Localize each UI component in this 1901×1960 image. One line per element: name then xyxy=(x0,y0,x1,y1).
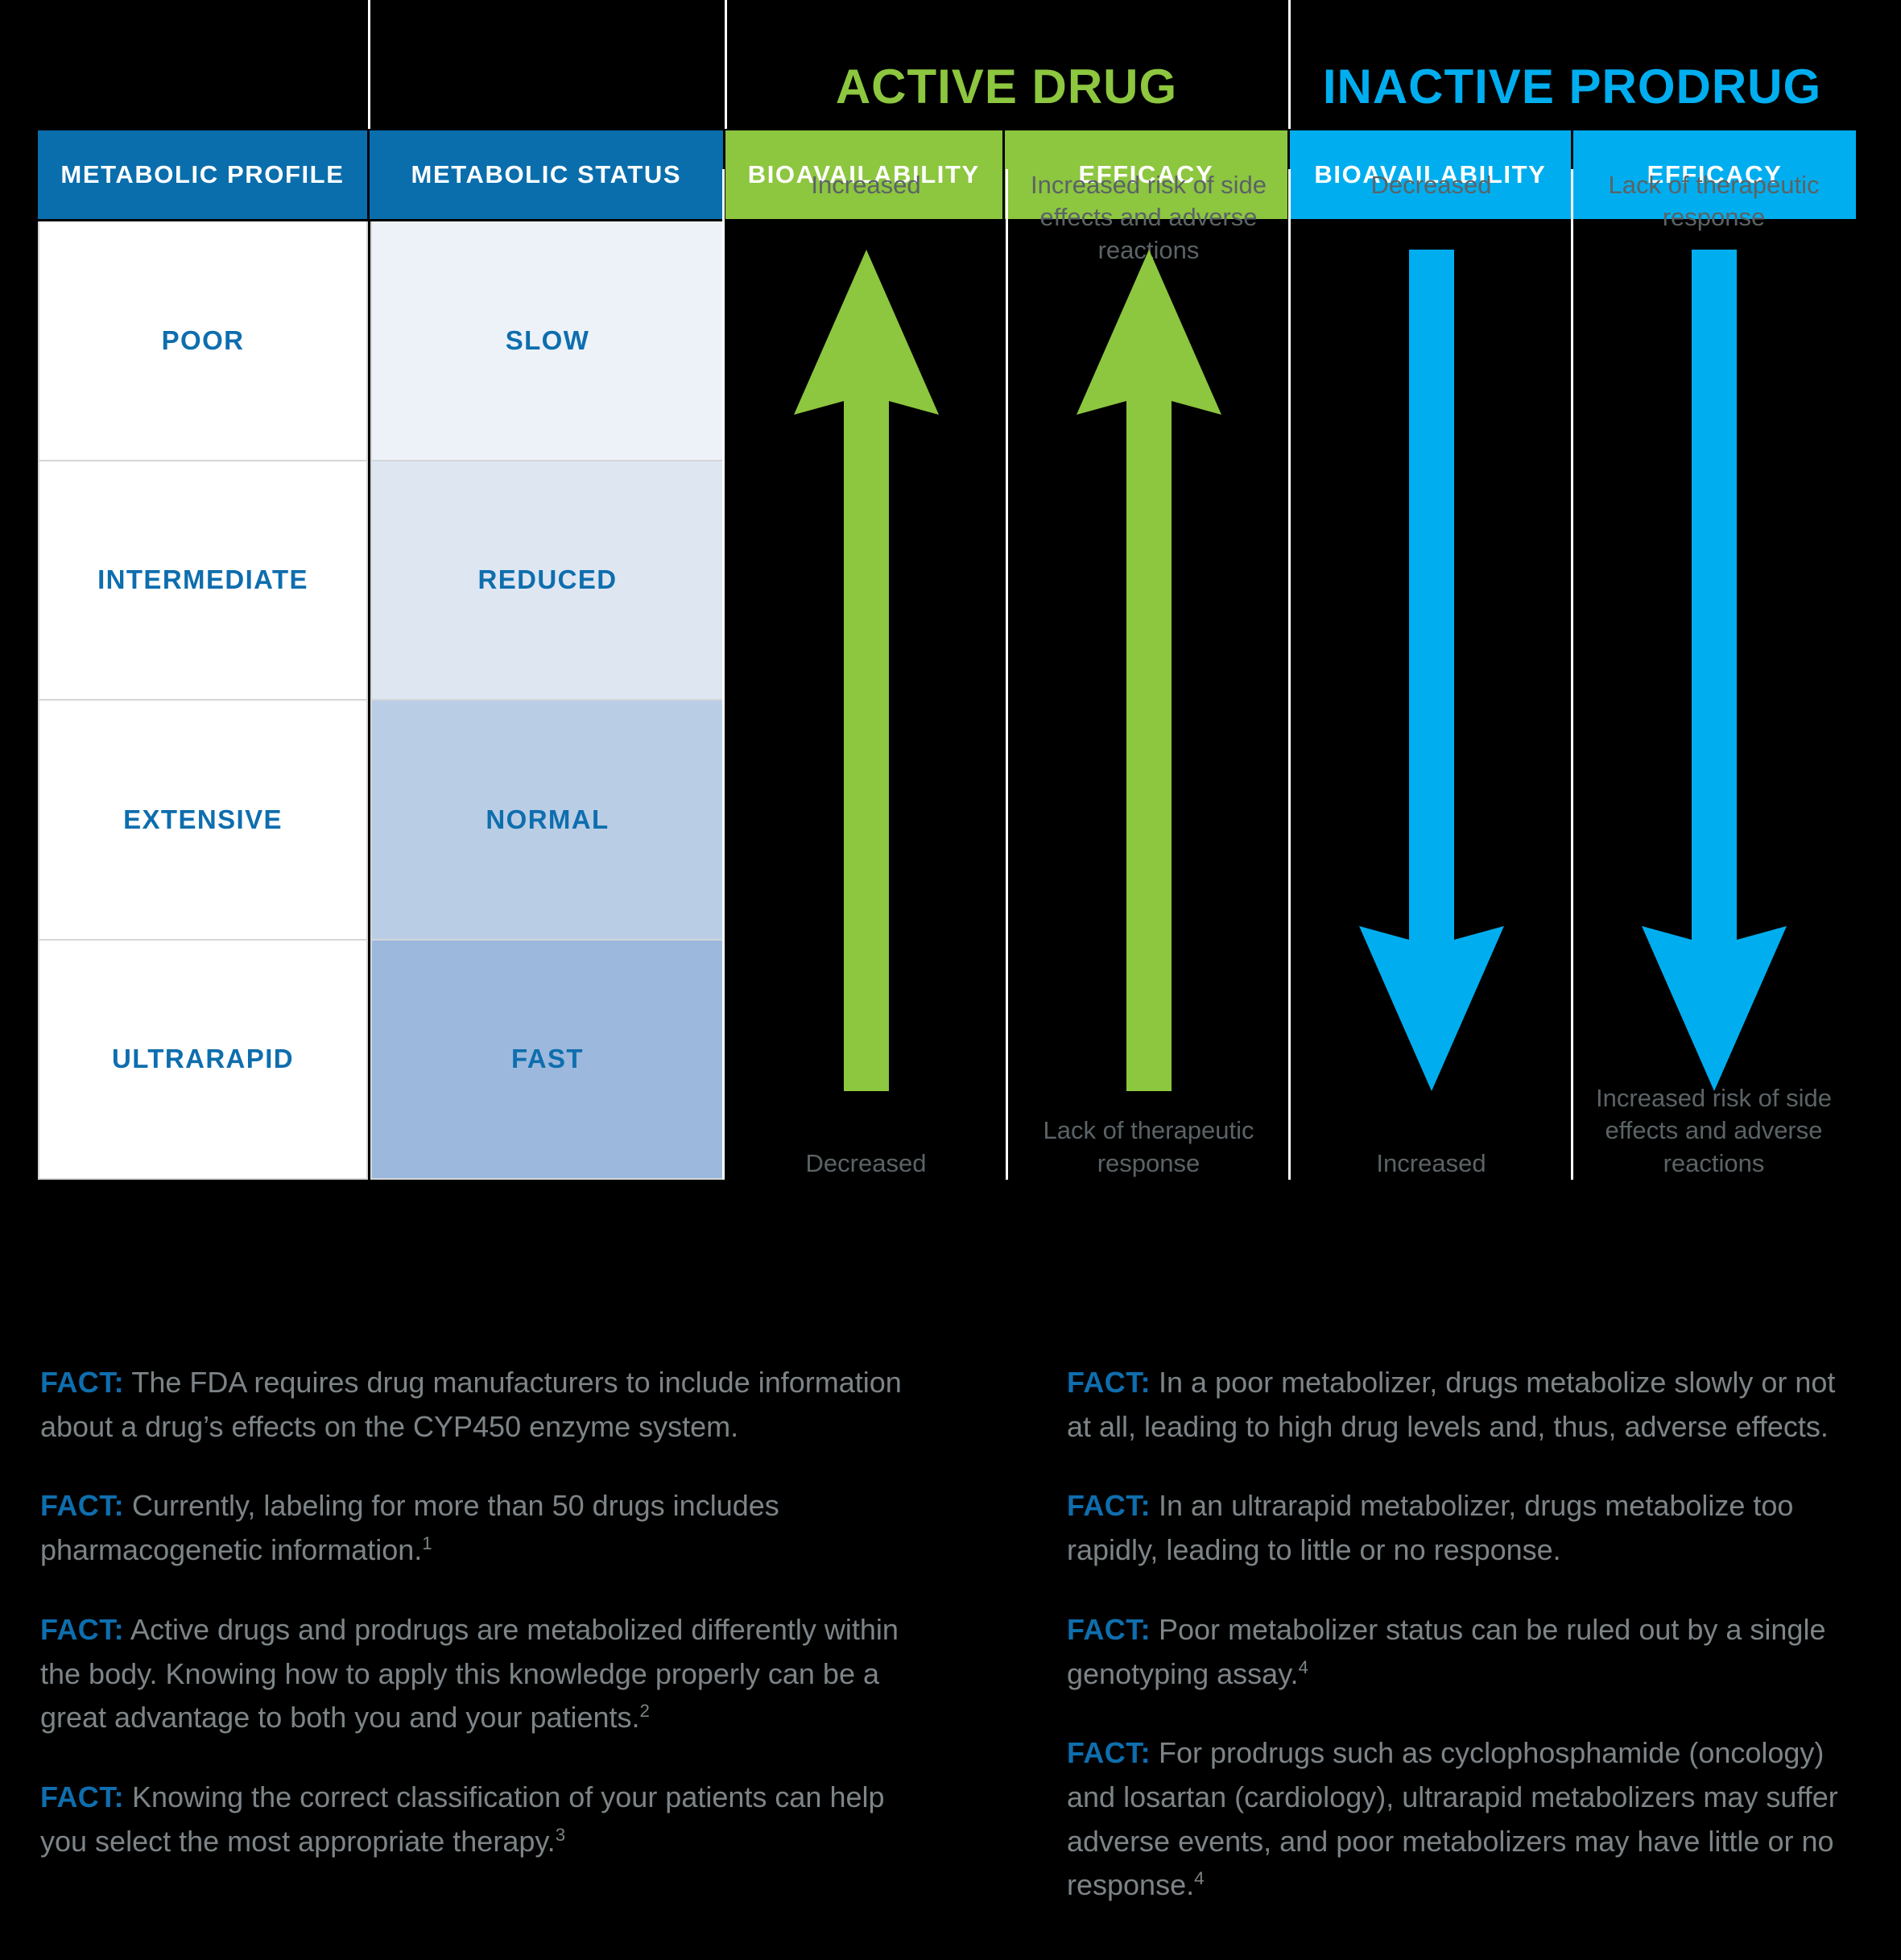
arrow-up-green-icon xyxy=(794,250,939,1091)
fact-item: FACT: In a poor metabolizer, drugs metab… xyxy=(1067,1361,1853,1449)
arrow-cell-active-bioavailability: Increased Decreased xyxy=(725,169,1007,1180)
arrow-up-green-icon xyxy=(1077,250,1221,1091)
active-drug-title: ACTIVE DRUG xyxy=(836,63,1177,111)
metabolizer-table: ACTIVE DRUG INACTIVE PRODRUG METABOLIC P… xyxy=(38,0,1856,1185)
fact-item: FACT: For prodrugs such as cyclophospham… xyxy=(1067,1731,1853,1908)
fact-text: The FDA requires drug manufacturers to i… xyxy=(40,1366,902,1443)
facts-section: FACT: The FDA requires drug manufacturer… xyxy=(0,1361,1901,1960)
facts-column-right: FACT: In a poor metabolizer, drugs metab… xyxy=(938,1361,1901,1960)
table-left-columns: POOR INTERMEDIATE EXTENSIVE ULTRARAPID S… xyxy=(38,221,725,1180)
super-header-row: ACTIVE DRUG INACTIVE PRODRUG xyxy=(38,0,1856,129)
column-header-metabolic-profile: METABOLIC PROFILE xyxy=(38,130,367,219)
arrow-cell-active-efficacy: Increased risk of side effects and adver… xyxy=(1007,169,1290,1180)
table-row: NORMAL xyxy=(370,701,725,941)
fact-text: In a poor metabolizer, drugs metabolize … xyxy=(1067,1366,1835,1443)
fact-ref: 3 xyxy=(556,1825,565,1845)
fact-text: For prodrugs such as cyclophosphamide (o… xyxy=(1067,1736,1838,1901)
super-header-divider-3 xyxy=(1288,0,1291,129)
infographic-root: ACTIVE DRUG INACTIVE PRODRUG METABOLIC P… xyxy=(0,0,1901,1960)
fact-tag: FACT: xyxy=(40,1489,124,1522)
table-row: REDUCED xyxy=(370,461,725,701)
arrow-cell-prodrug-efficacy: Lack of therapeutic response Increased r… xyxy=(1572,169,1855,1180)
fact-tag: FACT: xyxy=(1067,1613,1151,1646)
table-row: POOR xyxy=(38,221,368,461)
fact-item: FACT: In an ultrarapid metabolizer, drug… xyxy=(1067,1484,1853,1572)
fact-item: FACT: Active drugs and prodrugs are meta… xyxy=(40,1608,906,1740)
fact-item: FACT: Knowing the correct classification… xyxy=(40,1776,906,1863)
fact-item: FACT: Currently, labeling for more than … xyxy=(40,1484,906,1572)
table-row: SLOW xyxy=(370,221,725,461)
arrow-panel: Increased Decreased Increased risk of si… xyxy=(725,169,1856,1180)
fact-tag: FACT: xyxy=(40,1613,124,1646)
fact-ref: 1 xyxy=(422,1533,432,1553)
fact-ref: 2 xyxy=(640,1701,650,1721)
fact-text: Active drugs and prodrugs are metabolize… xyxy=(40,1613,899,1734)
arrow-down-cyan-icon xyxy=(1359,250,1504,1091)
table-row: EXTENSIVE xyxy=(38,701,368,941)
arrow-bottom-label: Decreased xyxy=(725,1147,1007,1180)
super-header-divider-2 xyxy=(725,0,727,129)
fact-text: In an ultrarapid metabolizer, drugs meta… xyxy=(1067,1489,1793,1566)
facts-column-left: FACT: The FDA requires drug manufacturer… xyxy=(0,1361,938,1960)
super-header-divider-1 xyxy=(368,0,370,129)
table-body: POOR INTERMEDIATE EXTENSIVE ULTRARAPID S… xyxy=(38,221,1856,1180)
super-header-blank-2 xyxy=(370,0,725,129)
fact-ref: 4 xyxy=(1299,1657,1308,1677)
fact-ref: 4 xyxy=(1194,1868,1204,1888)
fact-text: Knowing the correct classification of yo… xyxy=(40,1780,885,1858)
fact-item: FACT: Poor metabolizer status can be rul… xyxy=(1067,1608,1853,1696)
arrow-top-label: Decreased xyxy=(1290,169,1572,201)
arrow-down-cyan-icon xyxy=(1642,250,1787,1091)
fact-tag: FACT: xyxy=(1067,1489,1151,1522)
fact-text: Poor metabolizer status can be ruled out… xyxy=(1067,1613,1825,1690)
arrow-bottom-label: Increased risk of side effects and adver… xyxy=(1572,1082,1855,1180)
arrow-top-label: Increased xyxy=(725,169,1007,201)
fact-item: FACT: The FDA requires drug manufacturer… xyxy=(40,1361,906,1449)
table-row: INTERMEDIATE xyxy=(38,461,368,701)
fact-tag: FACT: xyxy=(40,1366,124,1399)
arrow-bottom-label: Lack of therapeutic response xyxy=(1007,1114,1290,1180)
super-header-active-drug: ACTIVE DRUG xyxy=(725,0,1288,129)
fact-text: Currently, labeling for more than 50 dru… xyxy=(40,1489,779,1566)
fact-tag: FACT: xyxy=(40,1780,124,1813)
column-header-metabolic-status: METABOLIC STATUS xyxy=(370,130,723,219)
super-header-inactive-prodrug: INACTIVE PRODRUG xyxy=(1288,0,1856,129)
fact-tag: FACT: xyxy=(1067,1736,1151,1769)
inactive-prodrug-title: INACTIVE PRODRUG xyxy=(1323,63,1821,111)
super-header-blank-1 xyxy=(38,0,370,129)
arrow-bottom-label: Increased xyxy=(1290,1147,1572,1180)
fact-tag: FACT: xyxy=(1067,1366,1151,1399)
table-row: FAST xyxy=(370,941,725,1181)
table-row: ULTRARAPID xyxy=(38,941,368,1181)
arrow-top-label: Lack of therapeutic response xyxy=(1572,169,1855,234)
metabolic-status-column: SLOW REDUCED NORMAL FAST xyxy=(370,221,725,1180)
metabolic-profile-column: POOR INTERMEDIATE EXTENSIVE ULTRARAPID xyxy=(38,221,368,1180)
arrow-cell-prodrug-bioavailability: Decreased Increased xyxy=(1290,169,1572,1180)
